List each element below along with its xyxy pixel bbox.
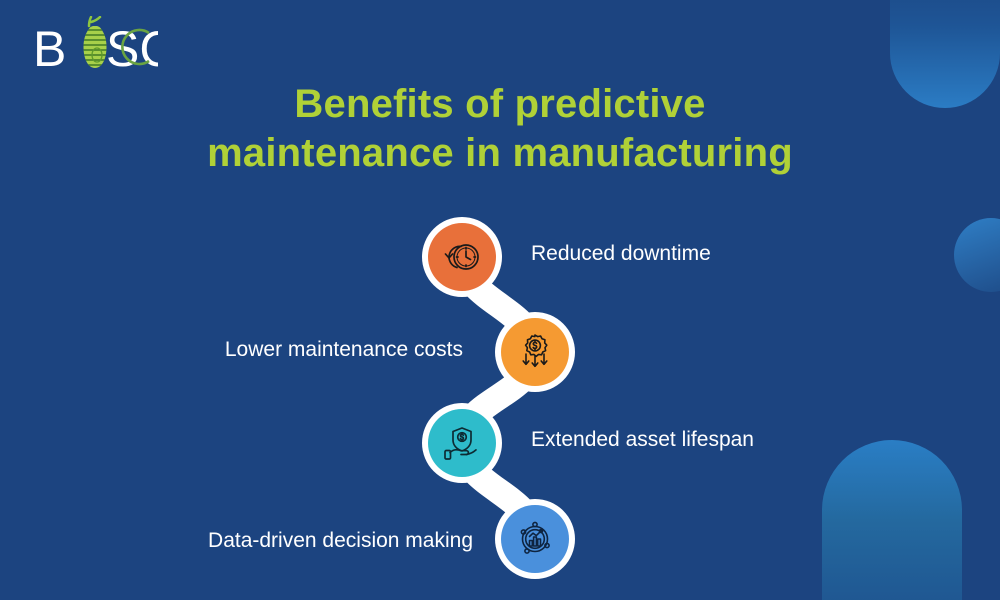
clock-rotate-arrow-icon: [441, 236, 483, 278]
cost-down-badge-icon: [514, 331, 556, 373]
hand-shield-dollar-icon: [441, 422, 483, 464]
flow-label-reduced-downtime: Reduced downtime: [531, 242, 711, 266]
flow-label-data-driven-decision-making: Data-driven decision making: [208, 529, 473, 553]
flow-label-extended-asset-lifespan: Extended asset lifespan: [531, 428, 754, 452]
benefits-flow-diagram: Reduced downtime Lower maintenance costs: [0, 0, 1000, 600]
flow-node-data-driven-decision-making[interactable]: [501, 505, 569, 573]
analytics-dashboard-icon: [514, 518, 556, 560]
flow-label-lower-maintenance-costs: Lower maintenance costs: [225, 338, 463, 362]
flow-node-reduced-downtime[interactable]: [428, 223, 496, 291]
flow-node-lower-maintenance-costs[interactable]: [501, 318, 569, 386]
connector-ribbon: [0, 0, 1000, 600]
flow-node-extended-asset-lifespan[interactable]: [428, 409, 496, 477]
